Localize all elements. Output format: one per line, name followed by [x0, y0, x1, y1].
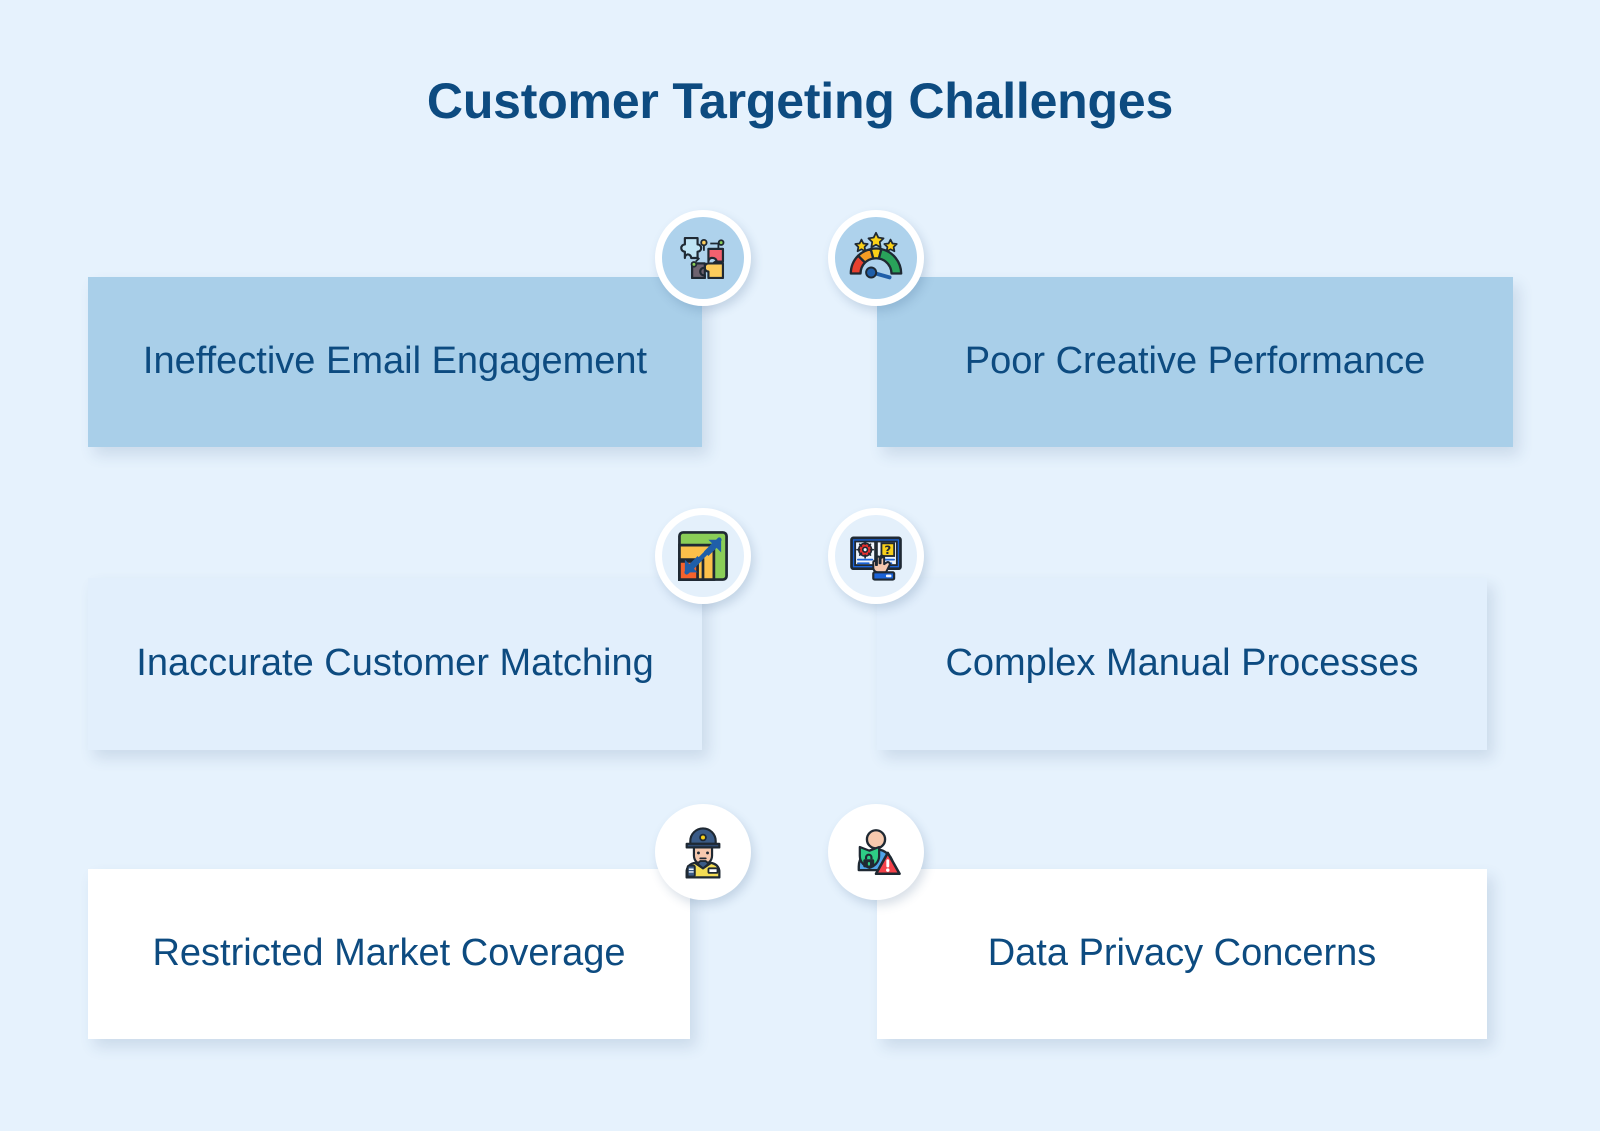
- manual-book-hand-icon: ?: [847, 527, 905, 585]
- card-label: Inaccurate Customer Matching: [136, 636, 653, 691]
- card-label: Data Privacy Concerns: [988, 926, 1377, 981]
- card-label: Poor Creative Performance: [965, 334, 1425, 389]
- page-title: Customer Targeting Challenges: [0, 72, 1600, 130]
- card-complex-manual-processes[interactable]: Complex Manual Processes: [877, 578, 1487, 750]
- card-ineffective-email-engagement[interactable]: Ineffective Email Engagement: [88, 277, 702, 447]
- card-inaccurate-customer-matching[interactable]: Inaccurate Customer Matching: [88, 578, 702, 750]
- rating-gauge-icon: [845, 227, 907, 289]
- badge-privacy-shield[interactable]: [828, 804, 924, 900]
- badge-inner: [835, 811, 917, 893]
- privacy-shield-warning-icon: [847, 823, 905, 881]
- badge-puzzle-pieces[interactable]: [655, 210, 751, 306]
- badge-manual-book[interactable]: ?: [828, 508, 924, 604]
- svg-text:?: ?: [884, 543, 891, 557]
- badge-security-guard[interactable]: [655, 804, 751, 900]
- card-label: Complex Manual Processes: [945, 636, 1418, 691]
- badge-inner: [835, 217, 917, 299]
- badge-inner: [662, 811, 744, 893]
- infographic-canvas: Customer Targeting Challenges Ineffectiv…: [0, 0, 1600, 1131]
- growth-chart-arrow-icon: [674, 527, 732, 585]
- badge-inner: ?: [835, 515, 917, 597]
- badge-rating-gauge[interactable]: [828, 210, 924, 306]
- card-poor-creative-performance[interactable]: Poor Creative Performance: [877, 277, 1513, 447]
- card-label: Restricted Market Coverage: [152, 926, 625, 981]
- card-label: Ineffective Email Engagement: [143, 334, 647, 389]
- badge-growth-chart[interactable]: [655, 508, 751, 604]
- badge-inner: [662, 515, 744, 597]
- badge-inner: [662, 217, 744, 299]
- security-guard-icon: [674, 823, 732, 881]
- card-data-privacy-concerns[interactable]: Data Privacy Concerns: [877, 869, 1487, 1039]
- puzzle-pieces-icon: [674, 229, 732, 287]
- card-restricted-market-coverage[interactable]: Restricted Market Coverage: [88, 869, 690, 1039]
